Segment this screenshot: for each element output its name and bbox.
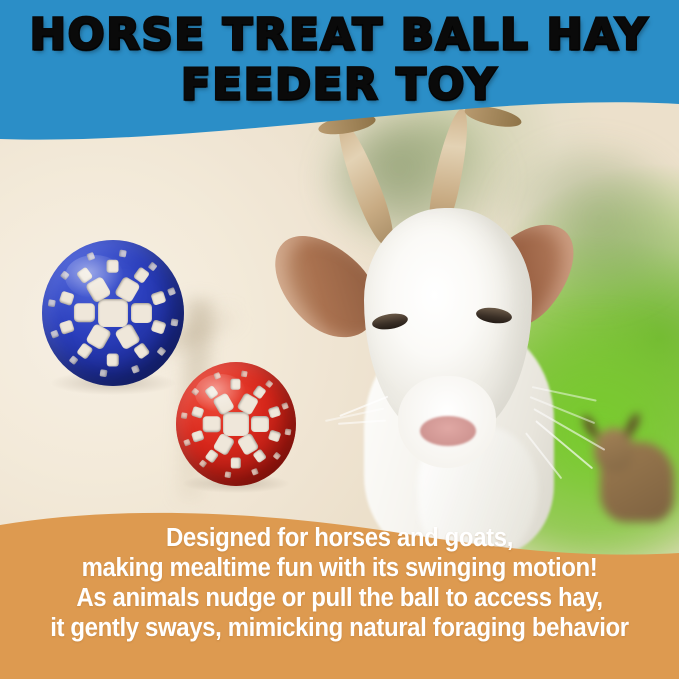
red-ball-hole bbox=[191, 388, 199, 396]
blue-ball-shell bbox=[42, 240, 184, 386]
blue-ball-hole bbox=[131, 365, 140, 374]
blue-ball-hole bbox=[47, 300, 55, 308]
red-ball-hole bbox=[199, 460, 207, 468]
blue-ball-hole bbox=[151, 291, 167, 307]
product-ad-image: HORSE TREAT BALL HAY FEEDER TOY Designed… bbox=[0, 0, 679, 679]
blue-ball-hole bbox=[171, 319, 179, 327]
description-line-3: As animals nudge or pull the ball to acc… bbox=[20, 583, 658, 613]
blue-ball-hole bbox=[59, 270, 69, 280]
red-ball-hole bbox=[224, 471, 231, 478]
blue-ball-hole bbox=[98, 299, 129, 327]
red-ball-hole bbox=[183, 439, 191, 446]
red-lattice-ball bbox=[176, 362, 296, 486]
blue-ball-hole bbox=[157, 346, 167, 356]
description-text-block: Designed for horses and goats,making mea… bbox=[0, 523, 679, 643]
red-ball-hole bbox=[268, 430, 282, 443]
blue-ball-hole bbox=[107, 353, 119, 366]
red-ball-hole bbox=[231, 379, 241, 390]
red-ball-hole bbox=[251, 468, 258, 476]
red-ball-hole bbox=[241, 370, 248, 377]
red-ball-hole bbox=[251, 416, 269, 432]
title-line-2: FEEDER TOY bbox=[0, 64, 679, 108]
title-line-1: HORSE TREAT BALL HAY bbox=[0, 14, 679, 58]
blue-lattice-ball bbox=[42, 240, 184, 386]
blue-ball-hole bbox=[59, 291, 75, 307]
blue-ball-hole bbox=[119, 249, 127, 257]
red-ball-hole bbox=[190, 430, 204, 443]
blue-ball-hole bbox=[151, 320, 167, 336]
goat-portrait bbox=[268, 96, 668, 536]
blue-ball-hole bbox=[131, 303, 152, 322]
goat-nose bbox=[420, 416, 476, 446]
red-ball-hole bbox=[268, 405, 282, 418]
blue-ball-hole bbox=[86, 252, 95, 261]
red-ball-hole bbox=[190, 405, 204, 418]
description-line-2: making mealtime fun with its swinging mo… bbox=[20, 553, 658, 583]
blue-ball-hole bbox=[167, 287, 176, 296]
description-line-1: Designed for horses and goats, bbox=[20, 523, 658, 553]
red-ball-shell bbox=[176, 362, 296, 486]
red-ball-hole bbox=[273, 452, 281, 460]
title-banner: HORSE TREAT BALL HAY FEEDER TOY bbox=[0, 0, 679, 152]
red-ball-hole bbox=[265, 380, 273, 388]
description-band: Designed for horses and goats,making mea… bbox=[0, 489, 679, 679]
red-ball-hole bbox=[231, 458, 241, 469]
description-line-4: it gently sways, mimicking natural forag… bbox=[20, 613, 658, 643]
red-ball-hole bbox=[203, 416, 221, 432]
blue-ball-hole bbox=[50, 330, 59, 339]
blue-ball-hole bbox=[74, 303, 95, 322]
blue-ball-hole bbox=[69, 355, 79, 365]
blue-ball-hole bbox=[59, 320, 75, 336]
blue-ball-hole bbox=[133, 342, 151, 360]
red-ball-hole bbox=[285, 429, 292, 436]
red-ball-hole bbox=[180, 413, 187, 420]
blue-ball-hole bbox=[99, 369, 107, 377]
blue-ball-hole bbox=[147, 261, 157, 271]
red-ball-hole bbox=[213, 372, 220, 380]
red-ball-hole bbox=[223, 412, 249, 436]
title-block: HORSE TREAT BALL HAY FEEDER TOY bbox=[0, 0, 679, 108]
blue-ball-hole bbox=[107, 260, 119, 273]
red-ball-hole bbox=[252, 448, 267, 463]
red-ball-hole bbox=[281, 402, 289, 409]
